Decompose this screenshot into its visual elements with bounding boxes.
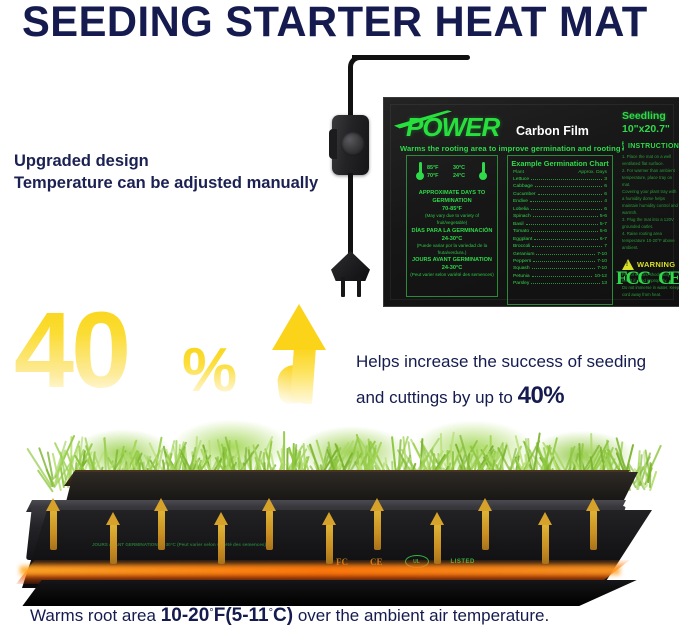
chart-row: Cucumber6 bbox=[508, 191, 612, 198]
temp-c-high: 30°C bbox=[453, 164, 465, 172]
chart-plant: Geranium bbox=[513, 251, 534, 258]
chart-days: 5-6 bbox=[600, 228, 607, 235]
chart-days: 6 bbox=[604, 191, 607, 198]
chart-plant: Basil bbox=[513, 221, 524, 228]
germination-chart-box: Example Germination Chart Plant Approx. … bbox=[507, 155, 613, 305]
heat-arrow-icon bbox=[214, 512, 229, 564]
heat-arrow-icon bbox=[430, 512, 445, 564]
chart-days: 5-7 bbox=[600, 221, 607, 228]
arrow-shaft bbox=[542, 524, 549, 564]
germination-range-es: 24-30°C bbox=[410, 235, 494, 243]
info-icon: i bbox=[622, 141, 624, 151]
chart-row: Petunia10-12 bbox=[508, 273, 612, 280]
instruction-item: maintain humidity control and warmth. bbox=[622, 203, 679, 217]
chart-plant: Tomato bbox=[513, 228, 529, 235]
temp-f-low: 70°F bbox=[427, 172, 438, 180]
chart-plant: Parsley bbox=[513, 280, 529, 287]
thermometer-icon-fahrenheit bbox=[416, 161, 424, 180]
product-type-label: Carbon Film bbox=[516, 124, 589, 138]
chart-row: Cabbage6 bbox=[508, 183, 612, 190]
chart-leader bbox=[531, 283, 599, 284]
stat-number: 40 bbox=[14, 296, 128, 404]
chart-plant: Cucumber bbox=[513, 191, 536, 198]
temp-c-low: 24°C bbox=[453, 172, 465, 180]
panel-certifications: FCC CE bbox=[616, 268, 678, 290]
plug-prong-left bbox=[341, 277, 345, 297]
chart-leader bbox=[533, 216, 598, 217]
chart-days: 3 bbox=[604, 176, 607, 183]
arrow-shaft bbox=[266, 510, 273, 550]
chart-leader bbox=[532, 246, 602, 247]
arrow-shaft bbox=[158, 510, 165, 550]
arrow-shaft bbox=[434, 524, 441, 564]
arrow-head bbox=[214, 512, 228, 525]
chart-leader bbox=[532, 276, 593, 277]
caption-unit-f: F bbox=[214, 605, 226, 626]
chart-plant: Lobelia bbox=[513, 206, 529, 213]
bottom-caption: Warms root area 10-20°F(5-11°C) over the… bbox=[30, 605, 549, 627]
arrow-shaft bbox=[374, 510, 381, 550]
chart-leader bbox=[535, 186, 602, 187]
chart-days: 13 bbox=[602, 280, 607, 287]
ipower-logo: POWER bbox=[406, 112, 499, 143]
seedling-tray-illustration: JOURS AVANT GERMINATION 24-30°C (Peut va… bbox=[6, 412, 674, 602]
grass-blade bbox=[649, 462, 651, 488]
chart-title: Example Germination Chart bbox=[508, 156, 612, 170]
chart-row: Peppers7-10 bbox=[508, 258, 612, 265]
chart-days: 7 bbox=[604, 243, 607, 250]
arrow-head bbox=[322, 512, 336, 525]
chart-days: 5-6 bbox=[600, 213, 607, 220]
chart-days: 10-12 bbox=[594, 273, 607, 280]
cord-lower-segment bbox=[348, 173, 353, 257]
caption-suffix: over the ambient air temperature. bbox=[293, 606, 549, 625]
chart-days: 6-7 bbox=[600, 236, 607, 243]
chart-row: Lettuce3 bbox=[508, 176, 612, 183]
chart-col-plant: Plant bbox=[513, 170, 524, 175]
heat-arrow-icon bbox=[154, 498, 169, 550]
heat-glow-core bbox=[20, 566, 620, 575]
caption-unit-c: C) bbox=[273, 605, 293, 626]
chart-plant: Peppers bbox=[513, 258, 531, 265]
panel-product-size: 10"x20.7" bbox=[622, 123, 679, 136]
upgraded-line-2: Temperature can be adjusted manually bbox=[14, 172, 318, 194]
marketing-image: SEEDING STARTER HEAT MAT Upgraded design… bbox=[0, 0, 679, 638]
arrow-shaft bbox=[590, 510, 597, 550]
arrow-head bbox=[586, 498, 600, 511]
ce-logo-icon: CE bbox=[658, 268, 678, 290]
chart-leader bbox=[531, 209, 602, 210]
arrow-head bbox=[430, 512, 444, 525]
cord-horizontal-segment bbox=[352, 55, 470, 60]
arrow-head bbox=[154, 498, 168, 511]
plug-prong-right bbox=[357, 277, 361, 297]
chart-plant: Spinach bbox=[513, 213, 531, 220]
arrow-head bbox=[262, 498, 276, 511]
benefit-line-2-prefix: and cuttings by up to bbox=[356, 388, 518, 407]
thermometer-bulb bbox=[416, 172, 424, 180]
chart-leader bbox=[538, 194, 603, 195]
benefit-paragraph: Helps increase the success of seeding an… bbox=[356, 348, 676, 416]
chart-days: 7-10 bbox=[597, 258, 607, 265]
chart-plant: Cabbage bbox=[513, 183, 533, 190]
chart-header-row: Plant Approx. Days bbox=[508, 170, 612, 176]
product-label-panel: POWER Carbon Film Warms the rooting area… bbox=[383, 97, 679, 307]
heat-arrow-icon bbox=[478, 498, 493, 550]
germination-note-es: (Puede variar por la variedad de la frut… bbox=[410, 243, 494, 256]
arrow-head bbox=[272, 304, 326, 350]
chart-days: 6 bbox=[604, 183, 607, 190]
arrow-shaft bbox=[326, 524, 333, 564]
mat-shadow bbox=[16, 580, 656, 606]
chart-row: Broccoli7 bbox=[508, 243, 612, 250]
chart-leader bbox=[536, 254, 595, 255]
benefit-highlight: 40% bbox=[518, 382, 565, 409]
heat-arrow-icon bbox=[586, 498, 601, 550]
germination-temperature-box: 85°F 70°F 30°C 24°C APPROXIMATE DAYS TO … bbox=[406, 155, 498, 297]
chart-plant: Broccoli bbox=[513, 243, 530, 250]
arrow-head bbox=[538, 512, 552, 525]
panel-product-title: Seedling bbox=[622, 110, 679, 123]
brand-name: POWER bbox=[406, 112, 499, 142]
germination-range-en: 70-85°F bbox=[410, 205, 494, 213]
chart-plant: Eggplant bbox=[513, 236, 532, 243]
thermometer-icon-celsius bbox=[479, 161, 487, 180]
instruction-item: 1. Place the mat on a well ventilated fl… bbox=[622, 154, 679, 168]
page-title: SEEDING STARTER HEAT MAT bbox=[22, 0, 643, 47]
chart-row: Lobelia6 bbox=[508, 206, 612, 213]
chart-row: Eggplant6-7 bbox=[508, 236, 612, 243]
chart-row: Squash7-10 bbox=[508, 265, 612, 272]
chart-col-days: Approx. Days bbox=[578, 170, 607, 175]
chart-leader bbox=[531, 231, 598, 232]
heat-arrow-icon bbox=[262, 498, 277, 550]
arrow-head bbox=[46, 498, 60, 511]
benefit-line-1: Helps increase the success of seeding bbox=[356, 348, 676, 376]
instructions-header-row: i INSTRUCTIONS bbox=[622, 141, 679, 151]
arrow-shaft bbox=[290, 346, 316, 404]
temp-f-high: 85°F bbox=[427, 164, 438, 172]
instructions-list: 1. Place the mat on a well ventilated fl… bbox=[622, 154, 679, 251]
arrow-head bbox=[370, 498, 384, 511]
germination-range-fr: 24-30°C bbox=[410, 264, 494, 272]
arrow-shaft bbox=[218, 524, 225, 564]
arrow-shaft bbox=[482, 510, 489, 550]
chart-days: 7-10 bbox=[597, 265, 607, 272]
heat-arrow-icon bbox=[46, 498, 61, 550]
chart-leader bbox=[526, 224, 598, 225]
chart-leader bbox=[533, 261, 595, 262]
chart-leader bbox=[530, 201, 602, 202]
heat-arrow-icon bbox=[322, 512, 337, 564]
temperature-controller[interactable] bbox=[332, 115, 369, 175]
chart-row: Parsley13 bbox=[508, 280, 612, 287]
upgraded-line-1: Upgraded design bbox=[14, 150, 318, 172]
chart-leader bbox=[531, 179, 602, 180]
upgraded-design-text: Upgraded design Temperature can be adjus… bbox=[14, 150, 318, 195]
stat-graphic: 40 % bbox=[10, 300, 340, 415]
germination-note-fr: (Peut varier selon variété des semence… bbox=[410, 272, 494, 279]
heat-arrow-icon bbox=[106, 512, 121, 564]
arrow-head bbox=[106, 512, 120, 525]
chart-row: Endive4 bbox=[508, 198, 612, 205]
celsius-labels: 30°C 24°C bbox=[453, 164, 465, 181]
chart-row: Basil5-7 bbox=[508, 221, 612, 228]
chart-plant: Endive bbox=[513, 198, 528, 205]
thermometer-bulb bbox=[479, 172, 487, 180]
panel-tagline: Warms the rooting area to improve germin… bbox=[400, 144, 621, 153]
germination-note-en: (May vary due to variety of fruit/vegeta… bbox=[410, 213, 494, 226]
germination-text-french: JOURS AVANT GERMINATION 24-30°C (Peut va… bbox=[407, 256, 497, 279]
arrow-head bbox=[478, 498, 492, 511]
controller-knob-icon[interactable] bbox=[341, 132, 365, 156]
chart-plant: Petunia bbox=[513, 273, 530, 280]
chart-row: Tomato5-6 bbox=[508, 228, 612, 235]
instruction-item: 2. For warmer than ambient temperature, … bbox=[622, 168, 679, 189]
germination-title-en: APPROXIMATE DAYS TO GERMINATION bbox=[410, 189, 494, 205]
instruction-item: 4. Raise rooting area temperature 10-20°… bbox=[622, 231, 679, 252]
chart-plant: Squash bbox=[513, 265, 530, 272]
up-arrow-icon bbox=[258, 304, 330, 409]
heat-arrow-icon bbox=[538, 512, 553, 564]
stat-percent-sign: % bbox=[182, 340, 237, 402]
instructions-header: INSTRUCTIONS bbox=[628, 143, 679, 150]
heat-arrow-icon bbox=[370, 498, 385, 550]
power-plug bbox=[331, 251, 370, 281]
arrow-shaft bbox=[50, 510, 57, 550]
chart-rows: Lettuce3Cabbage6Cucumber6Endive4Lobelia6… bbox=[508, 176, 612, 288]
caption-temp-f: 10-20 bbox=[161, 605, 210, 626]
fahrenheit-labels: 85°F 70°F bbox=[427, 164, 438, 181]
cord-upper-segment bbox=[348, 69, 353, 121]
arrow-shaft bbox=[110, 524, 117, 564]
germination-text-english: APPROXIMATE DAYS TO GERMINATION 70-85°F … bbox=[407, 189, 497, 227]
chart-days: 6 bbox=[604, 206, 607, 213]
germination-title-fr: JOURS AVANT GERMINATION bbox=[410, 256, 494, 264]
thermometer-row: 85°F 70°F 30°C 24°C bbox=[407, 161, 497, 189]
instruction-item: 3. Plug the mat into a 120V grounded out… bbox=[622, 217, 679, 231]
chart-leader bbox=[534, 239, 598, 240]
germination-title-es: DÍAS PARA LA GERMINACIÓN bbox=[410, 227, 494, 235]
chart-row: Spinach5-6 bbox=[508, 213, 612, 220]
chart-days: 4 bbox=[604, 198, 607, 205]
caption-temp-c: (5-11 bbox=[225, 605, 268, 626]
germination-text-spanish: DÍAS PARA LA GERMINACIÓN 24-30°C (Puede … bbox=[407, 227, 497, 257]
fcc-logo-icon: FCC bbox=[616, 268, 649, 290]
chart-days: 7-10 bbox=[597, 251, 607, 258]
chart-row: Geranium7-10 bbox=[508, 251, 612, 258]
caption-prefix: Warms root area bbox=[30, 606, 161, 625]
chart-leader bbox=[532, 268, 596, 269]
chart-plant: Lettuce bbox=[513, 176, 529, 183]
instruction-item: Covering your plant tray with a humidity… bbox=[622, 189, 679, 203]
